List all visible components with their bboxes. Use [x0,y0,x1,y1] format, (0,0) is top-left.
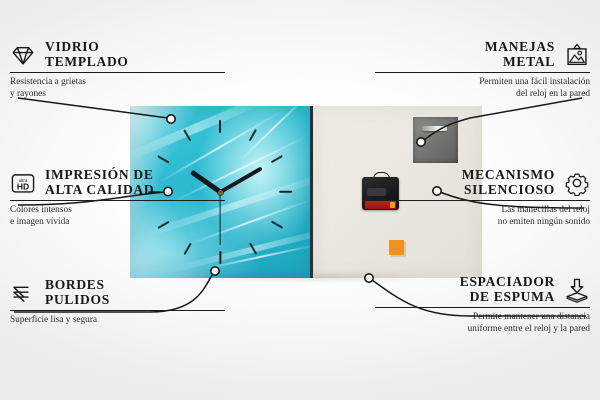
feature-header: Vidrio Templado [10,40,225,69]
feature-polished-edges: Bordes Pulidos Superficie lisa y segura [10,278,225,327]
hour-marker [270,155,282,164]
feature-description: Permite mantener una distancia uniforme … [375,312,590,335]
feature-rule [10,200,225,201]
hour-marker [157,155,169,164]
feature-tempered-glass: Vidrio Templado Resistencia a grietas y … [10,40,225,100]
feature-description: Colores intensos e imagen vívida [10,205,225,228]
feature-foam-spacer: Espaciador de espuma Permite mantener un… [375,275,590,335]
infographic-canvas: Vidrio Templado Resistencia a grietas y … [0,0,600,400]
feature-header: Bordes Pulidos [10,278,225,307]
hanger-slot [422,126,447,131]
feature-title: Bordes Pulidos [45,278,110,307]
feature-header: Manejas Metal [375,40,590,69]
feature-rule [10,310,225,311]
hour-marker [183,242,192,254]
feature-silent-mechanism: Mecanismo Silencioso Las manecillas del … [375,168,590,228]
feature-title: Espaciador de espuma [460,275,555,304]
feature-description: Permiten una fácil instalación del reloj… [375,77,590,100]
feature-rule [375,307,590,308]
metal-hanger-plate [413,117,458,163]
hour-marker [270,220,282,229]
svg-text:HD: HD [17,181,29,191]
gear-icon [564,170,590,196]
foam-spacer-pad [389,240,404,255]
hour-marker [219,251,221,264]
feature-rule [10,72,225,73]
polished-edges-icon [10,280,36,306]
diamond-icon [10,42,36,68]
feature-description: Las manecillas del reloj no emiten ningú… [375,205,590,228]
feature-description: Resistencia a grietas y rayones [10,77,225,100]
feature-description: Superficie lisa y segura [10,315,225,326]
feature-header: ultra HD Impresión de Alta calidad [10,168,225,197]
feature-metal-hooks: Manejas Metal Permiten una fácil instala… [375,40,590,100]
feature-header: Mecanismo Silencioso [375,168,590,197]
feature-title: Mecanismo Silencioso [462,168,555,197]
feature-high-quality-print: ultra HD Impresión de Alta calidad Color… [10,168,225,228]
foam-spacer-icon [564,277,590,303]
minute-hand [219,166,262,193]
ultra-hd-icon: ultra HD [10,170,36,196]
feature-title: Manejas Metal [485,40,555,69]
feature-title: Impresión de Alta calidad [45,168,154,197]
feature-rule [375,72,590,73]
picture-frame-hook-icon [564,42,590,68]
hour-marker [248,129,257,141]
feature-rule [375,200,590,201]
feature-title: Vidrio Templado [45,40,129,69]
feature-header: Espaciador de espuma [375,275,590,304]
